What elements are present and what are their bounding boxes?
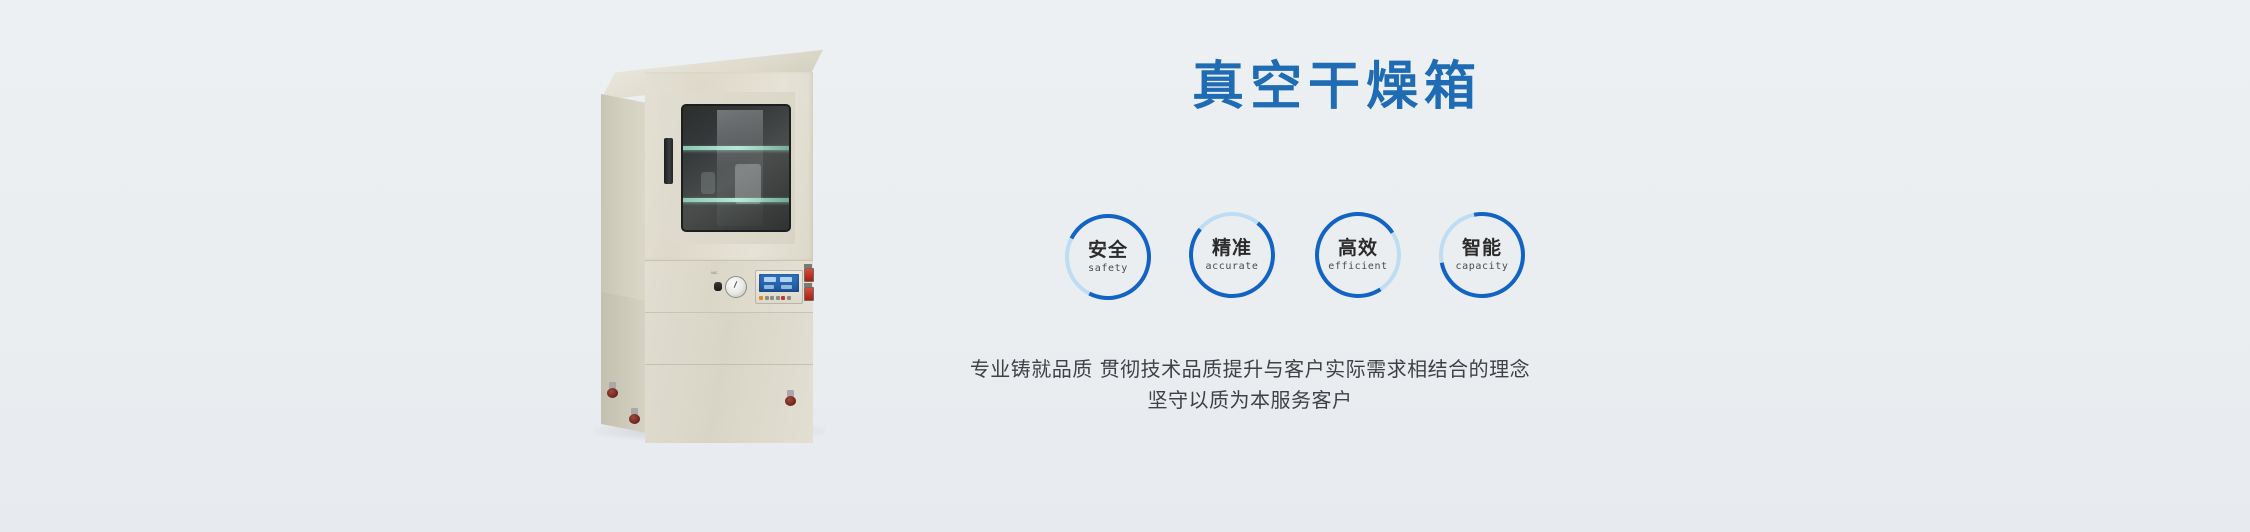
vacuum-valve-knob xyxy=(714,282,722,291)
oven-control-panel: VAC xyxy=(645,260,813,312)
banner-tagline: 专业铸就品质 贯彻技术品质提升与客户实际需求相结合的理念 坚守以质为本服务客户 xyxy=(870,354,1630,416)
oven-door-handle xyxy=(664,138,673,184)
feature-badge-efficient: 高效 efficient xyxy=(1315,212,1401,298)
vacuum-gauge-label: VAC xyxy=(711,271,718,275)
power-switch-top[interactable] xyxy=(804,268,814,282)
chamber-shelf-lower xyxy=(681,198,791,202)
oven-lower-cabinet xyxy=(645,312,813,443)
power-switch-bottom[interactable] xyxy=(804,287,814,301)
feature-label-en: safety xyxy=(1065,263,1151,274)
feature-label-cn: 高效 xyxy=(1315,238,1401,259)
feature-label-en: accurate xyxy=(1189,261,1275,272)
feature-label-en: efficient xyxy=(1315,261,1401,272)
feature-label-cn: 安全 xyxy=(1065,240,1151,261)
feature-label-cn: 精准 xyxy=(1189,238,1275,259)
chamber-shelf-upper xyxy=(681,146,791,150)
caster-wheel-front-right xyxy=(785,390,796,406)
vacuum-pressure-gauge xyxy=(725,276,747,298)
feature-badge-group: 安全 safety 精准 accurate 高效 efficient xyxy=(1065,212,1585,304)
controller-bezel xyxy=(755,270,803,304)
feature-label-cn: 智能 xyxy=(1439,238,1525,259)
feature-badge-accurate: 精准 accurate xyxy=(1189,212,1275,298)
caster-wheel-back-left xyxy=(607,382,618,398)
feature-label-en: capacity xyxy=(1439,261,1525,272)
oven-door-glass-window xyxy=(681,104,791,232)
controller-buttons[interactable] xyxy=(759,295,799,300)
product-image-vacuum-drying-oven: VAC xyxy=(585,52,835,447)
tagline-line-2: 坚守以质为本服务客户 xyxy=(870,385,1630,416)
banner-headline: 真空干燥箱 xyxy=(1192,58,1892,118)
hero-banner: VAC xyxy=(0,0,2250,532)
feature-badge-safety: 安全 safety xyxy=(1065,214,1151,300)
cabinet-seam xyxy=(645,364,813,365)
feature-badge-capacity: 智能 capacity xyxy=(1439,212,1525,298)
glass-interior-object-2 xyxy=(701,172,715,194)
oven-left-side-lower xyxy=(601,292,647,433)
tagline-line-1: 专业铸就品质 贯彻技术品质提升与客户实际需求相结合的理念 xyxy=(870,354,1630,385)
controller-lcd-display xyxy=(759,274,799,292)
caster-wheel-front-left xyxy=(629,408,640,424)
